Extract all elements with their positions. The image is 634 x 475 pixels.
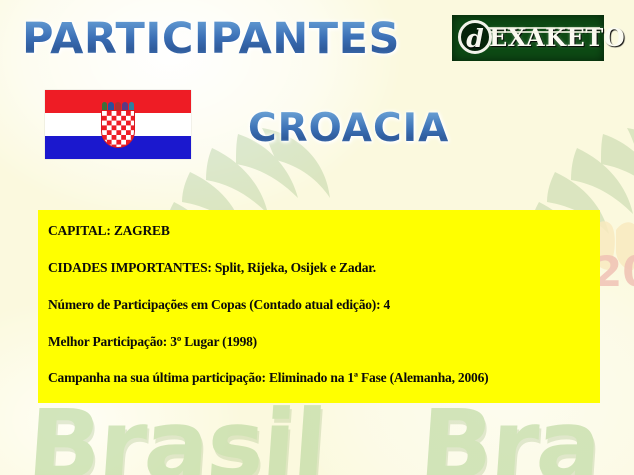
country-title: CROACIA xyxy=(248,106,449,151)
flag-crownlet xyxy=(101,102,135,110)
flag-checkerboard-shield xyxy=(101,110,135,148)
logo-letter: d xyxy=(455,18,495,58)
croatia-flag-icon xyxy=(45,90,191,159)
logo-rule-top xyxy=(488,27,600,29)
flag-coat-of-arms-icon xyxy=(101,102,135,148)
country-info-panel: CAPITAL: ZAGREB CIDADES IMPORTANTES: Spl… xyxy=(38,210,600,403)
info-line-capital: CAPITAL: ZAGREB xyxy=(48,224,600,239)
slide-canvas: 2014 2014 Brasil Bra PARTICIPANTES xyxy=(0,0,634,475)
info-line-cities: CIDADES IMPORTANTES: Split, Rijeka, Osij… xyxy=(48,261,600,276)
info-line-last-campaign: Campanha na sua última participação: Eli… xyxy=(48,371,600,386)
logo-d-mark-icon: d xyxy=(455,18,495,58)
info-line-participations: Número de Participações em Copas (Contad… xyxy=(48,298,600,313)
dexaketo-logo: d EXAKETO xyxy=(452,15,604,61)
info-line-best-result: Melhor Participação: 3º Lugar (1998) xyxy=(48,335,600,350)
page-title: PARTICIPANTES xyxy=(22,14,400,64)
logo-rule-bottom xyxy=(488,31,600,33)
logo-wordmark: EXAKETO xyxy=(489,26,625,50)
